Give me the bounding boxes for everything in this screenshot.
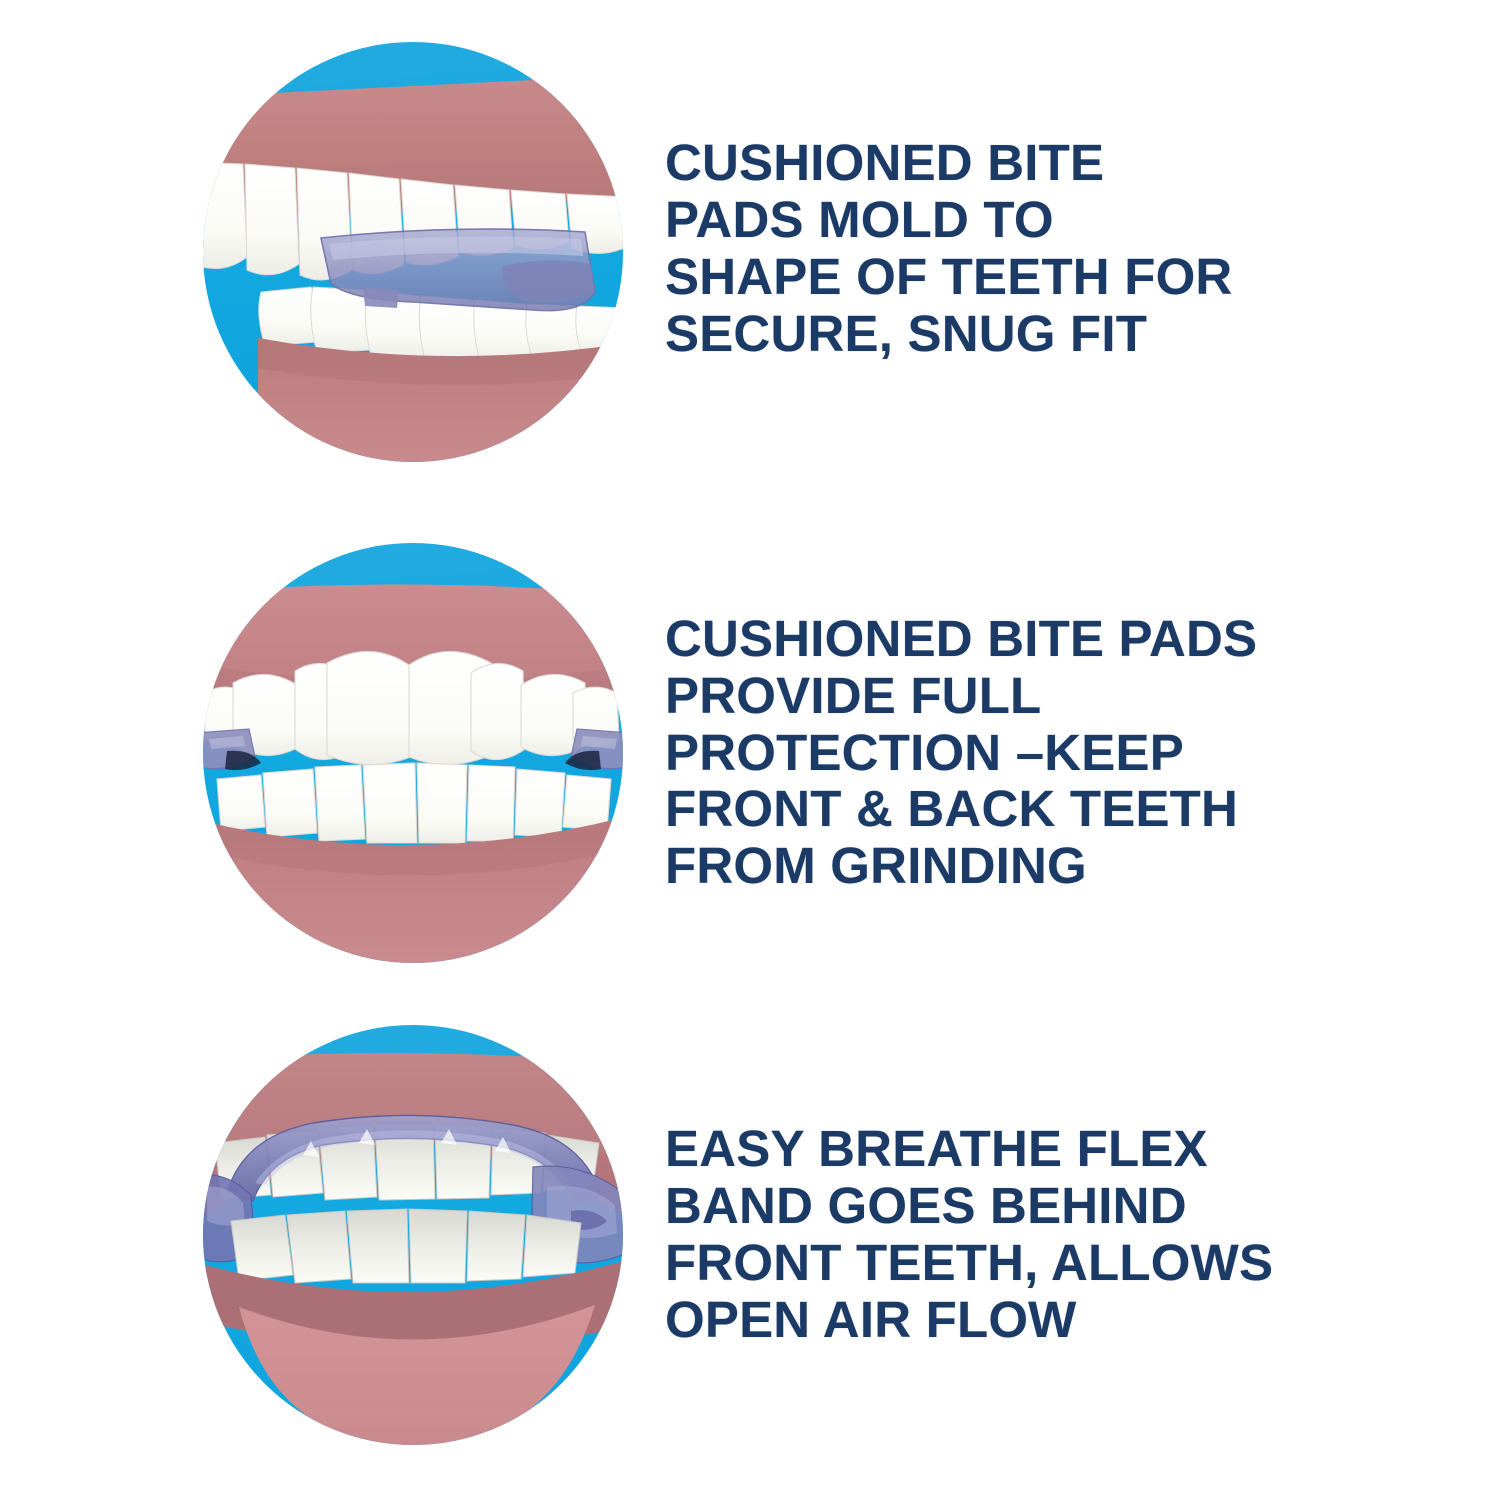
interior-view-teeth-svg <box>203 1025 623 1445</box>
front-view-teeth-svg <box>203 543 623 963</box>
feature-row-bite-pads-mold: CUSHIONED BITE PADS MOLD TO SHAPE OF TEE… <box>0 42 1500 462</box>
feature-caption-full-protection: CUSHIONED BITE PADS PROVIDE FULL PROTECT… <box>665 611 1500 895</box>
front-view-teeth-with-bite-pads-illustration <box>203 543 623 963</box>
side-view-teeth-svg <box>203 42 623 462</box>
product-feature-infographic: CUSHIONED BITE PADS MOLD TO SHAPE OF TEE… <box>0 0 1500 1500</box>
interior-view-teeth-with-flex-band-illustration <box>203 1025 623 1445</box>
side-view-teeth-with-mouthguard-illustration <box>203 42 623 462</box>
feature-caption-easy-breathe-flex-band: EASY BREATHE FLEX BAND GOES BEHIND FRONT… <box>665 1121 1500 1348</box>
feature-row-full-protection: CUSHIONED BITE PADS PROVIDE FULL PROTECT… <box>0 543 1500 963</box>
feature-row-easy-breathe-flex-band: EASY BREATHE FLEX BAND GOES BEHIND FRONT… <box>0 1025 1500 1445</box>
feature-caption-bite-pads-mold: CUSHIONED BITE PADS MOLD TO SHAPE OF TEE… <box>665 135 1500 362</box>
